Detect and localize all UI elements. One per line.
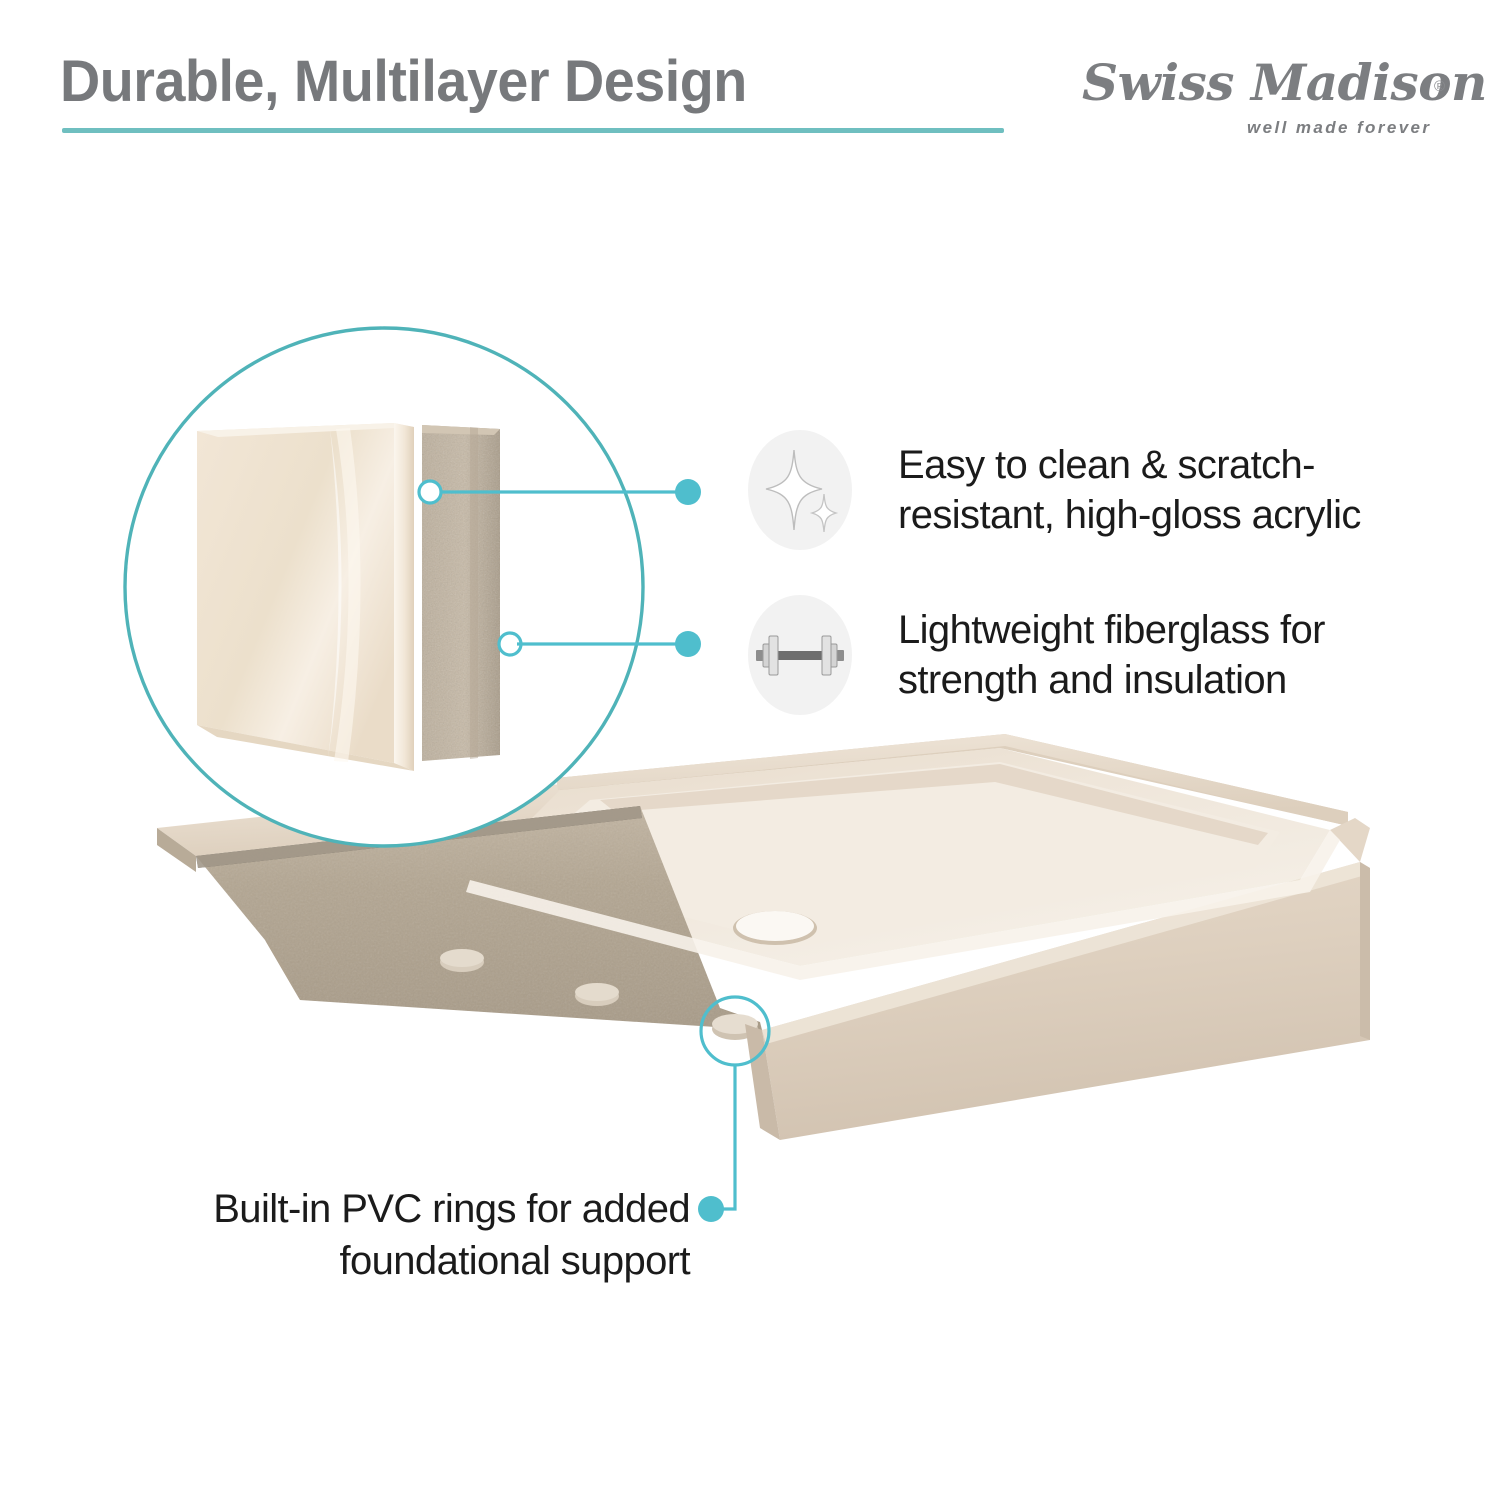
- feature-item-fiberglass: Lightweight fiberglass for strength and …: [748, 595, 1448, 715]
- right-end-cap: [1360, 862, 1370, 1040]
- basin-front-wall: [466, 830, 1340, 980]
- right-rim: [1330, 818, 1370, 862]
- infographic-page: Durable, Multilayer Design Swiss Madison…: [0, 0, 1500, 1500]
- dumbbell-icon: [748, 595, 852, 715]
- brand-logo: Swiss Madison ® well made forever: [1082, 58, 1462, 154]
- pvc-rings: [440, 949, 758, 1040]
- registered-trademark-icon: ®: [1434, 78, 1445, 95]
- title-underline: [62, 128, 1004, 133]
- magnifier-contents: [197, 423, 500, 771]
- drain-hole: [733, 911, 817, 945]
- rear-rim: [556, 734, 1348, 826]
- fiberglass-layer: [422, 425, 500, 761]
- logo-wordmark: Swiss Madison: [1082, 58, 1462, 108]
- front-apron: [745, 862, 1370, 1140]
- sparkle-shine-icon: [748, 430, 852, 550]
- cross-section-magnifier: [122, 325, 646, 849]
- logo-tagline: well made forever: [1247, 118, 1431, 138]
- leader-pvc: [698, 997, 769, 1222]
- acrylic-layer: [197, 423, 414, 771]
- feature-item-acrylic: Easy to clean & scratch-resistant, high-…: [748, 430, 1448, 550]
- feature-label: Lightweight fiberglass for strength and …: [898, 605, 1448, 706]
- page-title: Durable, Multilayer Design: [60, 52, 747, 113]
- pvc-rings-callout: Built-in PVC rings for added foundationa…: [110, 1183, 690, 1287]
- feature-label: Easy to clean & scratch-resistant, high-…: [898, 440, 1448, 541]
